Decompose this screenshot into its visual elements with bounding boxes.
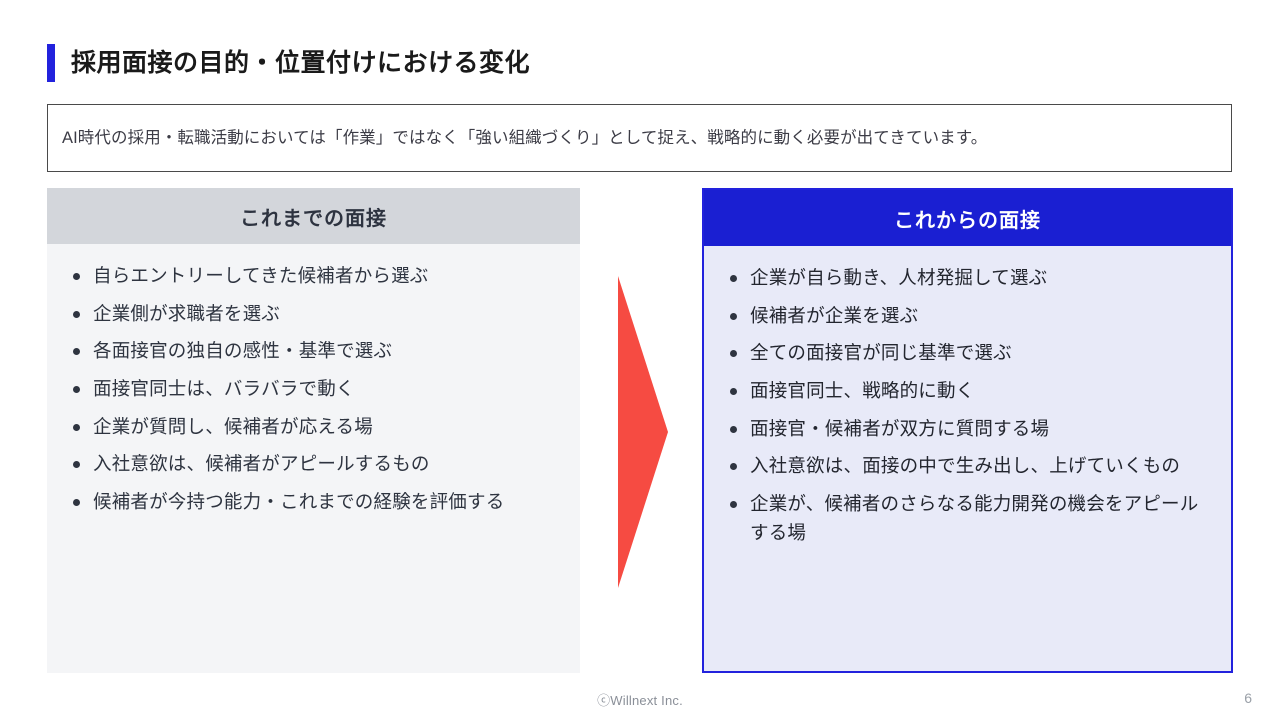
footer-copyright: ⓒWillnext Inc. (0, 690, 1280, 709)
title-accent-bar (47, 44, 55, 82)
list-item: 企業が質問し、候補者が応える場 (67, 413, 560, 442)
list-item: 入社意欲は、候補者がアピールするもの (67, 450, 560, 479)
list-item: 企業が、候補者のさらなる能力開発の機会をアピールする場 (724, 490, 1211, 547)
title-text: 採用面接の目的・位置付けにおける変化 (71, 51, 530, 76)
page-number: 6 (1244, 690, 1252, 706)
list-item: 面接官同士は、バラバラで動く (67, 375, 560, 404)
transition-arrow-icon (612, 276, 668, 588)
past-interview-list: 自らエントリーしてきた候補者から選ぶ 企業側が求職者を選ぶ 各面接官の独自の感性… (67, 262, 560, 517)
list-item: 入社意欲は、面接の中で生み出し、上げていくもの (724, 452, 1211, 481)
past-interview-body: 自らエントリーしてきた候補者から選ぶ 企業側が求職者を選ぶ 各面接官の独自の感性… (47, 244, 580, 536)
future-interview-list: 企業が自ら動き、人材発掘して選ぶ 候補者が企業を選ぶ 全ての面接官が同じ基準で選… (724, 264, 1211, 547)
lead-statement-box: AI時代の採用・転職活動においては「作業」ではなく「強い組織づくり」として捉え、… (47, 104, 1232, 172)
past-interview-header: これまでの面接 (47, 188, 580, 244)
list-item: 企業側が求職者を選ぶ (67, 300, 560, 329)
list-item: 企業が自ら動き、人材発掘して選ぶ (724, 264, 1211, 293)
future-interview-panel: これからの面接 企業が自ら動き、人材発掘して選ぶ 候補者が企業を選ぶ 全ての面接… (702, 188, 1233, 673)
list-item: 候補者が企業を選ぶ (724, 302, 1211, 331)
future-interview-body: 企業が自ら動き、人材発掘して選ぶ 候補者が企業を選ぶ 全ての面接官が同じ基準で選… (704, 246, 1231, 566)
list-item: 自らエントリーしてきた候補者から選ぶ (67, 262, 560, 291)
lead-statement-text: AI時代の採用・転職活動においては「作業」ではなく「強い組織づくり」として捉え、… (48, 126, 997, 151)
list-item: 全ての面接官が同じ基準で選ぶ (724, 339, 1211, 368)
future-interview-header: これからの面接 (704, 190, 1231, 246)
list-item: 候補者が今持つ能力・これまでの経験を評価する (67, 488, 560, 517)
list-item: 面接官・候補者が双方に質問する場 (724, 415, 1211, 444)
list-item: 各面接官の独自の感性・基準で選ぶ (67, 337, 560, 366)
page-title: 採用面接の目的・位置付けにおける変化 (47, 42, 530, 84)
list-item: 面接官同士、戦略的に動く (724, 377, 1211, 406)
past-interview-panel: これまでの面接 自らエントリーしてきた候補者から選ぶ 企業側が求職者を選ぶ 各面… (47, 188, 580, 673)
